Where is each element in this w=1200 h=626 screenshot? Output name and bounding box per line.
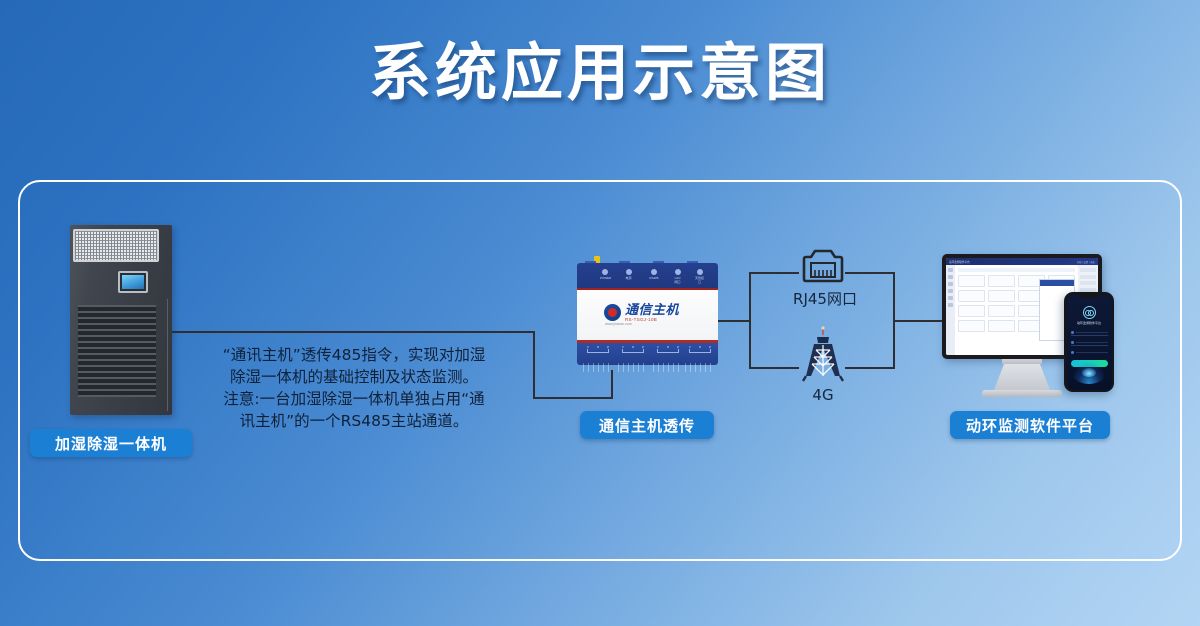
power-icon <box>602 269 608 275</box>
badge-gateway: 通信主机透传 <box>580 411 714 439</box>
gateway-led-power: POWER <box>600 269 609 280</box>
gateway-port-group-4: ABG <box>685 346 715 353</box>
gateway-terminal-block-3 <box>653 363 683 372</box>
password-field[interactable] <box>1071 340 1108 346</box>
antenna-port-icon <box>697 269 703 275</box>
wire-cabinet-to-gateway <box>172 331 535 333</box>
wire-tower-to-merge <box>845 367 895 369</box>
rj45-label: RJ45网口 <box>760 288 890 309</box>
phone-notch <box>1080 295 1098 298</box>
dashboard-sidebar <box>946 265 955 355</box>
gateway-port-group-3: ABG <box>653 346 683 353</box>
gateway-port-group-1: ABG <box>583 346 613 353</box>
wire-gateway-to-split <box>718 320 751 322</box>
mobile-phone-device: 动环监测软件平台 <box>1064 292 1114 392</box>
sidebar-icon-1 <box>948 268 953 272</box>
device-card <box>988 320 1015 332</box>
monitor-base <box>982 390 1062 397</box>
decorative-glow <box>1072 362 1106 384</box>
list-item <box>1080 275 1096 279</box>
cabinet-body <box>70 225 172 415</box>
cabinet-display-screen <box>122 275 144 289</box>
sidebar-icon-6 <box>948 303 953 307</box>
description-text: “通讯主机”透传485指令，实现对加湿 除湿一体机的基础控制及状态监测。 注意:… <box>196 344 512 432</box>
dehumidifier-cabinet <box>70 225 172 415</box>
sidebar-icon-5 <box>948 296 953 300</box>
monitor-neck <box>1002 359 1042 364</box>
device-card <box>958 305 985 317</box>
list-item <box>1080 268 1096 272</box>
dashboard-body <box>955 265 1078 355</box>
wire-gateway-terminal <box>611 370 613 399</box>
wire-drop-to-gateway <box>533 331 535 399</box>
badge-dehumidifier: 加湿除湿一体机 <box>30 429 192 457</box>
gateway-led-serial: RS485 <box>643 269 665 280</box>
diagram-canvas: 系统应用示意图 加湿除湿一体机 “通讯主机”透传485指令，实现对加湿 除湿一体… <box>0 0 1200 626</box>
description-line-4: 讯主机”的一个RS485主站通道。 <box>196 410 512 432</box>
detail-panel-header <box>1040 280 1074 286</box>
device-card <box>988 305 1015 317</box>
gateway-website-text: www.jinancc.com <box>605 322 632 326</box>
lock-icon <box>1071 341 1074 344</box>
cell-tower-icon <box>800 326 846 382</box>
communication-host-device: POWER 电源 RS485 LAN 网口 天线接口 <box>577 263 718 373</box>
serial-icon <box>651 269 657 275</box>
list-item <box>1080 281 1096 285</box>
breadcrumb <box>958 268 1075 272</box>
gateway-bottom-band: ABG ABG ABG ABG <box>577 340 718 365</box>
device-card <box>958 320 985 332</box>
cabinet-display-panel <box>118 271 148 293</box>
wire-rj45-to-merge <box>845 272 895 274</box>
signal-icon <box>626 269 632 275</box>
wire-to-rj45 <box>749 272 799 274</box>
gateway-port-group-2: ABG <box>618 346 648 353</box>
gateway-top-band: POWER 电源 RS485 LAN 网口 天线接口 <box>577 263 718 290</box>
rj45-port-icon <box>802 248 844 284</box>
gateway-led-antenna: 天线接口 <box>695 269 704 284</box>
device-card <box>958 290 985 302</box>
badge-platform: 动环监测软件平台 <box>950 411 1110 439</box>
device-card <box>988 275 1015 287</box>
sidebar-icon-3 <box>948 282 953 286</box>
user-icon <box>1071 331 1074 334</box>
lan-icon <box>675 269 681 275</box>
page-title: 系统应用示意图 <box>0 38 1200 110</box>
tower-label: 4G <box>778 386 868 404</box>
description-line-3: 注意:一台加湿除湿一体机单独占用“通 <box>196 388 512 410</box>
sidebar-icon-2 <box>948 275 953 279</box>
monitor-stand <box>994 364 1050 390</box>
wire-to-tower <box>749 367 799 369</box>
wire-split-left <box>749 272 751 369</box>
phone-screen: 动环监测软件平台 <box>1067 295 1112 390</box>
gateway-brand-text: 通信主机 <box>625 303 679 316</box>
monitoring-platform-device: 动环监测软件平台 在线 | 设置 | 退出 <box>942 254 1127 404</box>
gateway-led-lan: LAN 网口 <box>673 269 682 284</box>
gateway-terminal-block-4 <box>685 363 715 372</box>
wire-merge-to-monitor <box>893 320 949 322</box>
brand-mark-icon <box>604 304 621 321</box>
gateway-logo: 通信主机 RS-TSGJ-10B <box>604 303 679 323</box>
device-card <box>958 275 985 287</box>
wire-gateway-inlet <box>533 397 613 399</box>
gateway-terminal-block-1 <box>583 363 613 372</box>
dashboard-topbar-actions: 在线 | 设置 | 退出 <box>1077 260 1095 264</box>
cabinet-louver-grille-icon <box>78 305 156 397</box>
sidebar-icon-4 <box>948 289 953 293</box>
dashboard-topbar: 动环监测软件平台 在线 | 设置 | 退出 <box>946 258 1098 265</box>
gateway-terminal-block-2 <box>618 363 648 372</box>
device-card <box>988 290 1015 302</box>
gateway-led-signal: 电源 <box>624 269 633 280</box>
cabinet-door-seam <box>167 299 168 411</box>
cabinet-top-vent-icon <box>73 229 159 262</box>
gateway-face-plate: 通信主机 RS-TSGJ-10B www.jinancc.com <box>577 290 718 340</box>
remember-checkbox[interactable] <box>1071 350 1108 356</box>
checkbox-icon <box>1071 351 1074 354</box>
username-field[interactable] <box>1071 330 1108 336</box>
description-line-2: 除湿一体机的基础控制及状态监测。 <box>196 366 512 388</box>
list-item <box>1080 288 1096 292</box>
dashboard-title: 动环监测软件平台 <box>949 260 970 264</box>
app-logo-icon <box>1083 306 1096 319</box>
gateway-model-text: RS-TSGJ-10B <box>625 318 679 323</box>
description-line-1: “通讯主机”透传485指令，实现对加湿 <box>196 344 512 366</box>
app-title: 动环监测软件平台 <box>1071 321 1108 325</box>
